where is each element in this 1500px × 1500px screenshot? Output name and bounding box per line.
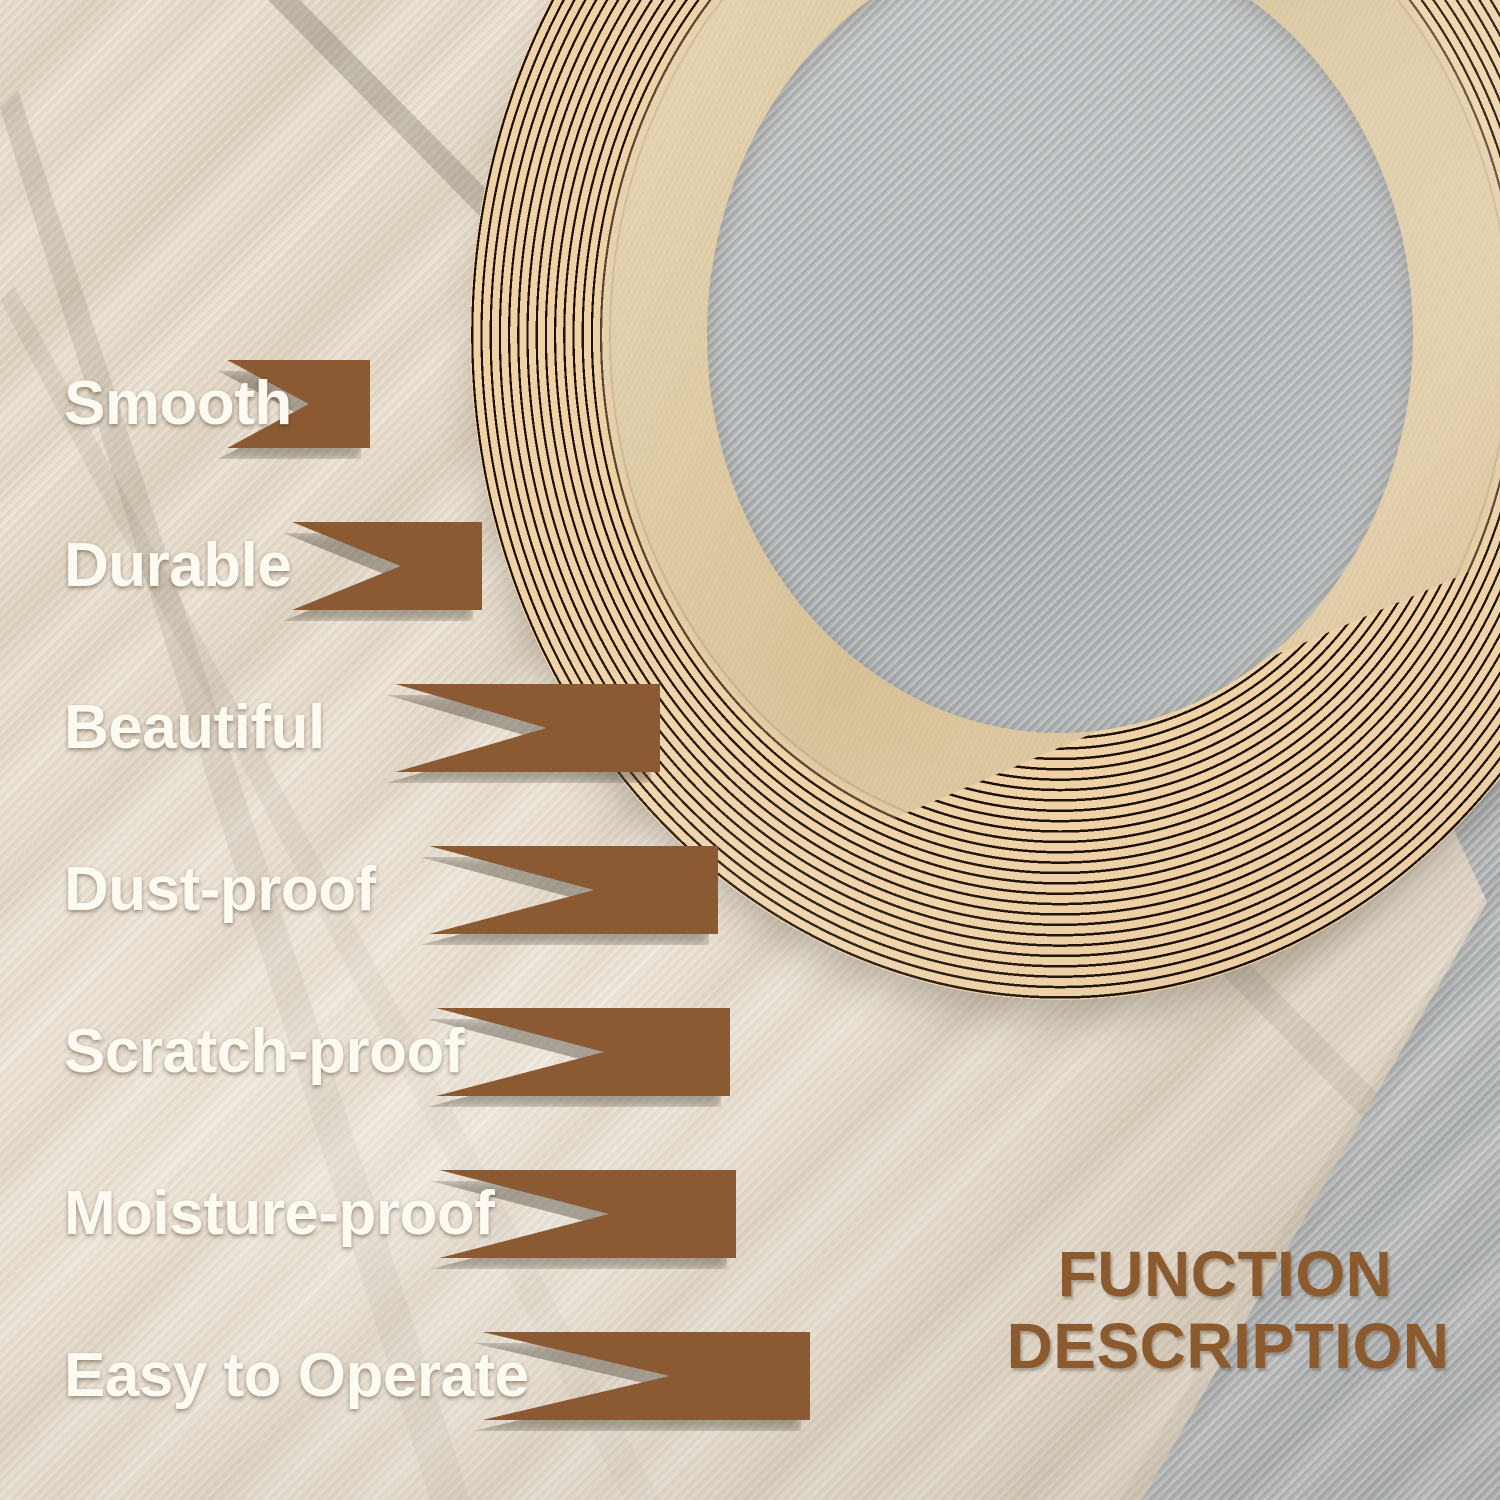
feature-banner: Durable (30, 522, 482, 610)
feature-banner: Smooth (30, 360, 370, 448)
feature-banner-label: Moisture-proof (64, 1183, 494, 1245)
heading-line-2: DESCRIPTION (996, 1310, 1460, 1382)
product-feature-image: SmoothDurableBeautifulDust-proofScratch-… (0, 0, 1500, 1500)
feature-banner: Easy to Operate (30, 1332, 810, 1420)
heading-line-1: FUNCTION (990, 1238, 1460, 1310)
feature-banner-label: Beautiful (64, 697, 325, 759)
feature-banner-label: Scratch-proof (64, 1021, 464, 1083)
feature-banner: Beautiful (30, 684, 660, 772)
feature-banner-label: Durable (64, 535, 291, 597)
feature-banner: Moisture-proof (30, 1170, 736, 1258)
function-description-heading: FUNCTION DESCRIPTION (990, 1238, 1460, 1383)
feature-banner-label: Dust-proof (64, 859, 376, 921)
feature-banner-label: Easy to Operate (64, 1345, 529, 1407)
feature-banner: Scratch-proof (30, 1008, 730, 1096)
feature-banner: Dust-proof (30, 846, 718, 934)
feature-banner-list: SmoothDurableBeautifulDust-proofScratch-… (0, 0, 900, 1500)
feature-banner-label: Smooth (64, 373, 292, 435)
